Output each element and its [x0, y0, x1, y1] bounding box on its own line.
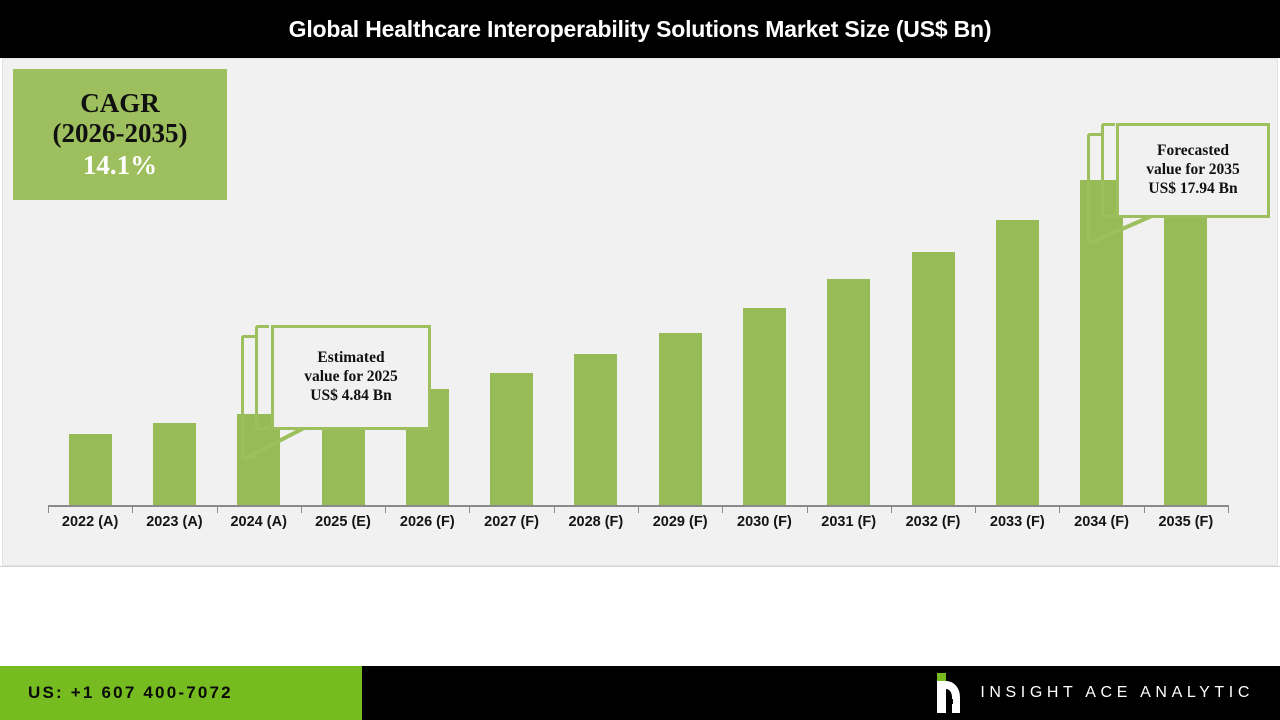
x-label-2024: 2024 (A) — [217, 514, 301, 530]
x-tick — [48, 505, 49, 513]
x-label-2031: 2031 (F) — [807, 514, 891, 530]
x-label-2026: 2026 (F) — [385, 514, 469, 530]
x-label-2032: 2032 (F) — [891, 514, 975, 530]
bar-2033[interactable] — [996, 220, 1039, 505]
brand-name: INSIGHT ACE ANALYTIC — [980, 684, 1254, 702]
bar-2022[interactable] — [69, 434, 112, 505]
page-title: Global Healthcare Interoperability Solut… — [289, 16, 992, 43]
x-tick — [975, 505, 976, 513]
x-label-2035: 2035 (F) — [1144, 514, 1228, 530]
bar-2031[interactable] — [827, 279, 870, 505]
x-tick — [638, 505, 639, 513]
x-tick — [554, 505, 555, 513]
x-tick — [469, 505, 470, 513]
bar-2029[interactable] — [659, 333, 702, 505]
callout-bracket-outer-2035 — [1087, 133, 1101, 243]
bar-2027[interactable] — [490, 373, 533, 505]
callout-estimated-2025: Estimated value for 2025 US$ 4.84 Bn — [271, 325, 431, 430]
callout-estimated-line3: US$ 4.84 Bn — [310, 387, 391, 406]
x-tick — [1144, 505, 1145, 513]
callout-estimated-line1: Estimated — [317, 349, 384, 368]
x-label-2027: 2027 (F) — [469, 514, 553, 530]
bar-2023[interactable] — [153, 423, 196, 505]
x-tick — [807, 505, 808, 513]
x-tick — [385, 505, 386, 513]
x-tick — [217, 505, 218, 513]
x-label-2033: 2033 (F) — [975, 514, 1059, 530]
cagr-value: 14.1% — [83, 149, 157, 181]
x-label-2034: 2034 (F) — [1059, 514, 1143, 530]
x-tick — [722, 505, 723, 513]
market-contributors-strip: Market Contributors: ORACLE Health Inter… — [0, 566, 1280, 666]
bar-2032[interactable] — [912, 252, 955, 505]
callout-forecasted-line1: Forecasted — [1157, 142, 1229, 161]
footer-bar: US: +1 607 400-7072 INSIGHT ACE ANALYTIC — [0, 666, 1280, 720]
footer-contact-block: US: +1 607 400-7072 — [0, 666, 362, 720]
title-bar: Global Healthcare Interoperability Solut… — [0, 0, 1280, 58]
footer-brand: INSIGHT ACE ANALYTIC — [932, 666, 1254, 720]
callout-forecasted-line2: value for 2035 — [1146, 161, 1240, 180]
x-tick — [1228, 505, 1229, 513]
bar-2028[interactable] — [574, 354, 617, 505]
x-label-2023: 2023 (A) — [132, 514, 216, 530]
cagr-label: CAGR — [80, 88, 160, 118]
x-label-2022: 2022 (A) — [48, 514, 132, 530]
callout-bracket-inner-2035 — [1101, 123, 1115, 218]
callout-estimated-line2: value for 2025 — [304, 368, 398, 387]
callout-bracket-outer-2025 — [241, 335, 255, 459]
insight-ace-logo-icon — [932, 673, 962, 713]
chart-panel: 2022 (A)2023 (A)2024 (A)2025 (E)2026 (F)… — [2, 58, 1278, 566]
x-label-2029: 2029 (F) — [638, 514, 722, 530]
callout-forecasted-2035: Forecasted value for 2035 US$ 17.94 Bn — [1116, 123, 1270, 218]
footer-phone-number[interactable]: US: +1 607 400-7072 — [28, 683, 233, 703]
cagr-badge: CAGR (2026-2035) 14.1% — [13, 69, 227, 200]
x-label-2030: 2030 (F) — [722, 514, 806, 530]
x-tick — [301, 505, 302, 513]
x-tick — [891, 505, 892, 513]
x-label-2028: 2028 (F) — [554, 514, 638, 530]
x-tick — [132, 505, 133, 513]
x-tick — [1059, 505, 1060, 513]
callout-forecasted-line3: US$ 17.94 Bn — [1148, 180, 1237, 199]
callout-bracket-inner-2025 — [255, 325, 269, 430]
cagr-period: (2026-2035) — [53, 118, 188, 148]
bar-2030[interactable] — [743, 308, 786, 505]
x-label-2025: 2025 (E) — [301, 514, 385, 530]
